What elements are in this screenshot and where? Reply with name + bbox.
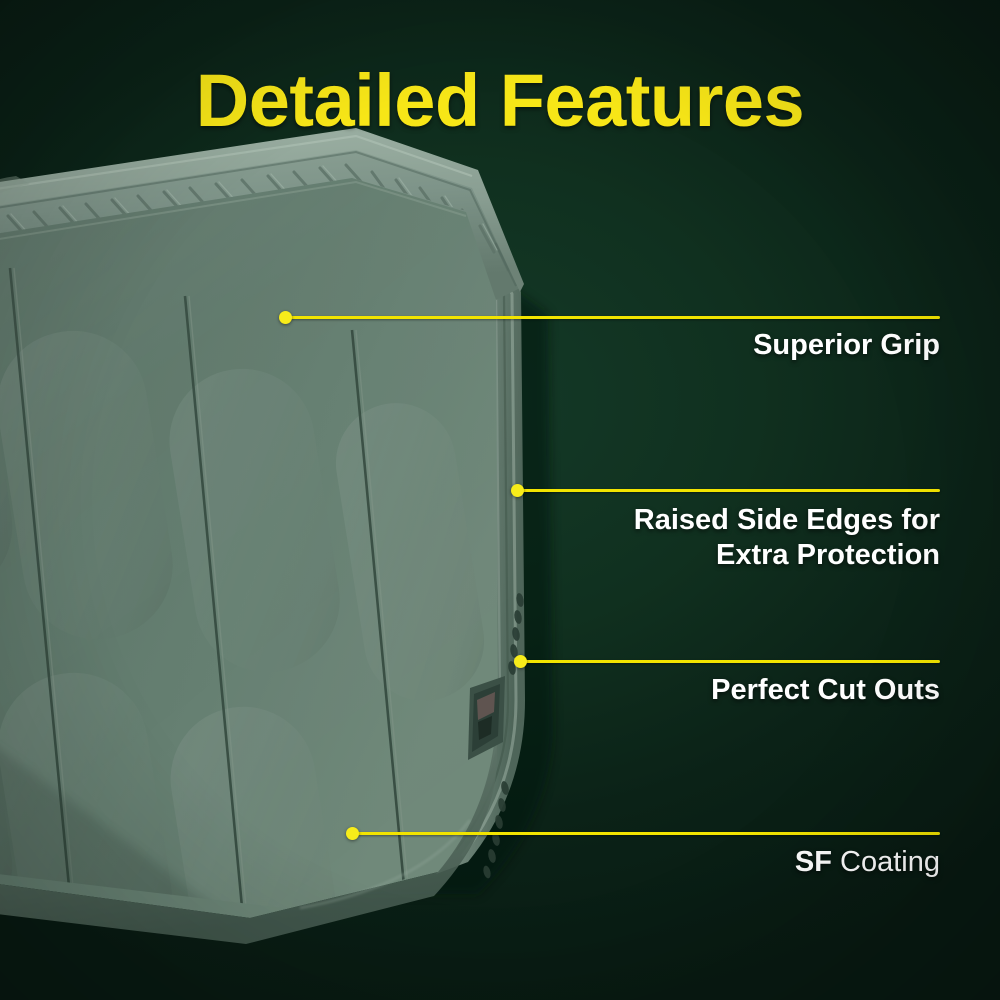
callout-marker-superior-grip (279, 311, 292, 324)
callout-line-perfect-cut-outs (520, 660, 940, 663)
callout-label-sf-coating: SF Coating (440, 845, 940, 880)
callout-line-superior-grip (285, 316, 940, 319)
callout-line-raised-side-edges (517, 489, 940, 492)
page-title: Detailed Features (0, 64, 1000, 138)
infographic-canvas: Detailed Features Superior Grip Raised S… (0, 0, 1000, 1000)
callout-label-sf: SF (795, 846, 832, 878)
callout-label-raised-side-edges: Raised Side Edges forExtra Protection (440, 503, 940, 574)
callout-label-perfect-cut-outs: Perfect Cut Outs (440, 673, 940, 708)
callout-marker-perfect-cut-outs (514, 655, 527, 668)
callout-label-line2: Extra Protection (716, 539, 940, 571)
callout-marker-sf-coating (346, 827, 359, 840)
callout-label-line1: Raised Side Edges for (634, 504, 940, 536)
callout-label-superior-grip: Superior Grip (440, 328, 940, 363)
callout-marker-raised-side-edges (511, 484, 524, 497)
callout-label-coating: Coating (832, 846, 940, 878)
callout-line-sf-coating (352, 832, 940, 835)
